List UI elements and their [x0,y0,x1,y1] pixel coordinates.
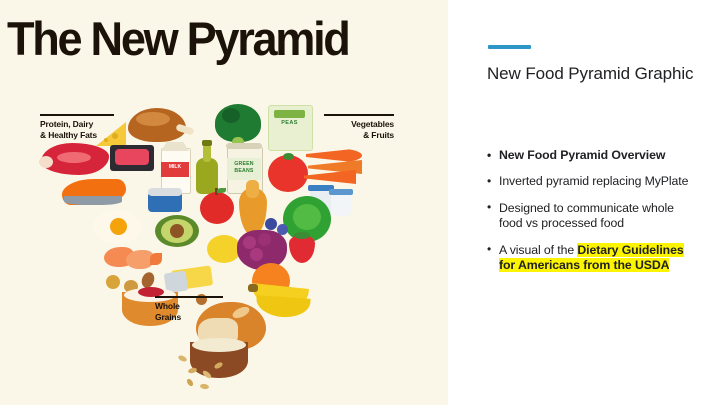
label-rule [155,296,223,298]
milk-carton-label: MILK [161,164,189,170]
label-vegetables-fruits: Vegetables & Fruits [324,114,394,140]
broccoli-floret-dark [222,108,240,123]
lettuce-inner [293,204,321,230]
peas-package-label: PEAS [272,120,307,126]
yogurt-cup-icon [331,192,351,216]
salmon-skin [64,196,122,205]
raw-fish-fillet [115,149,149,165]
peas-package-graphic [274,110,305,118]
rice-bowl-contents [192,338,246,352]
slide-text-panel: New Food Pyramid Graphic New Food Pyrami… [448,0,720,405]
milk-carton-top [161,142,189,151]
oat-grain-icon [200,383,210,389]
banana-stem [248,284,258,292]
list-item-lead: A visual of the [499,243,577,257]
label-line-2: Grains [155,312,181,322]
can-lid [226,143,262,149]
steak-fat-edge [39,156,53,168]
blueberry-food-icon [277,224,288,235]
banana-food-icon [255,295,310,319]
tomato-food-icon [268,155,308,192]
green-beans-can-label: GREEN BEANS [228,161,260,174]
carrot-food-icon [306,148,362,163]
tomato-stem [283,153,294,160]
list-item: New Food Pyramid Overview [484,148,700,163]
poster-title: The New Pyramid [7,14,349,64]
steak-marbling [57,152,91,163]
blueberry-food-icon [265,218,277,230]
tuna-can-lid [148,188,182,196]
bullet-list: New Food Pyramid Overview Inverted pyram… [484,148,700,284]
label-whole-grains: Whole Grains [155,296,217,322]
strawberry-leaf [294,232,310,239]
label-line-2: & Healthy Fats [40,130,97,140]
label-line-1: Vegetables [351,119,394,129]
list-item: Inverted pyramid replacing MyPlate [484,174,700,189]
accent-bar [488,45,531,49]
grape-berry [250,248,263,261]
presentation-slide: The New Pyramid Protein, Dairy & Healthy… [0,0,720,405]
grape-berry [258,233,271,246]
bottle-cap [202,140,212,146]
yogurt-cup-lid [329,189,353,195]
bottle-neck [203,144,211,162]
lemon-food-icon [207,235,241,263]
carrot-food-icon [304,170,356,184]
label-protein-dairy-healthy-fats: Protein, Dairy & Healthy Fats [40,114,114,140]
label-line-1: Whole [155,301,180,311]
fried-egg-yolk [110,218,127,235]
apple-food-icon [200,192,234,224]
label-line-2: & Fruits [363,130,394,140]
grape-berry [243,236,256,249]
apple-leaf [217,188,226,193]
food-pyramid-illustration: Protein, Dairy & Healthy Fats Vegetables… [0,100,448,390]
oat-grain-icon [188,367,198,374]
label-rule [40,114,114,116]
avocado-pit [170,224,184,238]
panel-heading: New Food Pyramid Graphic [487,63,697,85]
shrimp-tail [150,253,162,265]
list-item: Designed to communicate whole food vs pr… [484,201,700,232]
oat-grain-icon [186,378,195,387]
nut-food-icon [106,275,120,289]
strawberry-food-icon [289,235,315,263]
food-pyramid-poster-image: The New Pyramid Protein, Dairy & Healthy… [0,0,448,405]
label-line-1: Protein, Dairy [40,119,93,129]
list-item: A visual of the Dietary Guidelines for A… [484,243,700,274]
roast-chicken-highlight [136,112,170,126]
oat-grain-icon [177,354,187,362]
label-rule [324,114,394,116]
squash-neck [246,180,259,198]
